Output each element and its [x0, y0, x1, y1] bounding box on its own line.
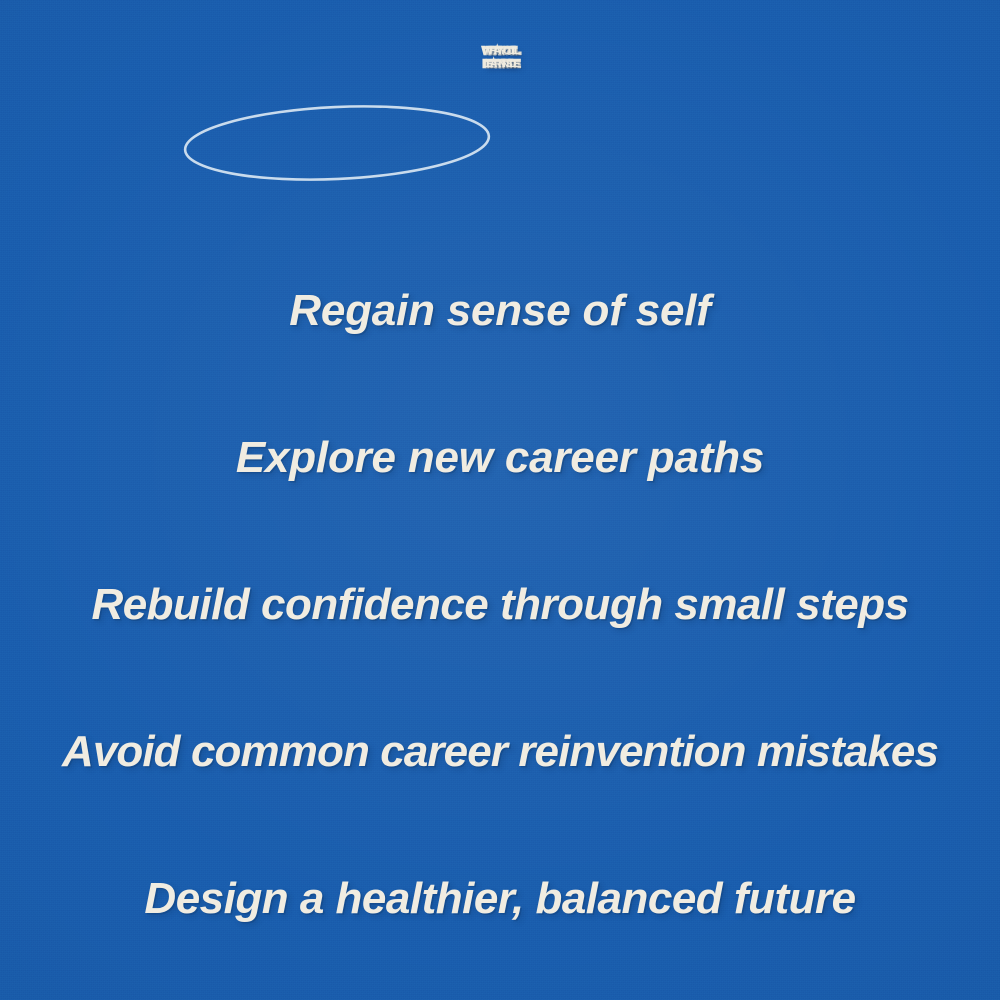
lesson-label: Avoid common career reinvention mistakes [62, 729, 938, 775]
lesson-label: Rebuild confidence through small steps [91, 582, 908, 628]
headline-line-1: WHAT YOU'LL [0, 48, 1000, 56]
circle-highlight-ellipse-icon [180, 97, 493, 189]
page-title: WHAT YOU'LL LEARN INSIDE [0, 48, 1000, 69]
list-item: Avoid common career reinvention mistakes [0, 679, 1000, 826]
headline-line-2: LEARN INSIDE [0, 61, 1000, 69]
lesson-list: Regain sense of self Explore new career … [0, 238, 1000, 973]
lesson-label: Explore new career paths [236, 435, 764, 481]
lesson-label: Regain sense of self [289, 288, 710, 334]
poster-canvas: WHAT YOU'LL LEARN INSIDE Regain sense of… [0, 0, 1000, 1000]
lesson-label: Design a healthier, balanced future [144, 876, 855, 922]
list-item: Explore new career paths [0, 385, 1000, 532]
list-item: Rebuild confidence through small steps [0, 532, 1000, 679]
list-item: Design a healthier, balanced future [0, 826, 1000, 973]
list-item: Regain sense of self [0, 238, 1000, 385]
